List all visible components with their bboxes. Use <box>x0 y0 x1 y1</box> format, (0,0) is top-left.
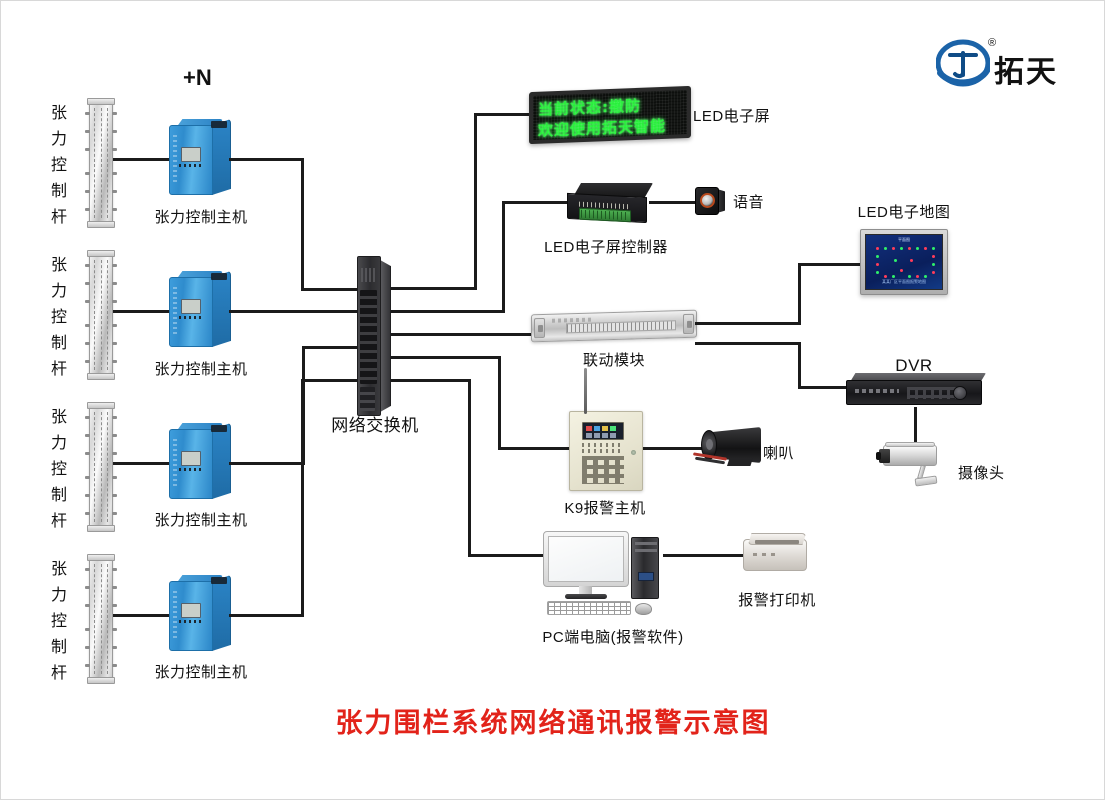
pole-label-1: 张力控制杆 <box>49 101 69 231</box>
wire-pc-printer <box>663 554 745 557</box>
wire-k9-horn <box>643 447 705 450</box>
tension-pole-2 <box>89 253 113 377</box>
brand-mark-icon <box>936 39 990 87</box>
tension-host-label-2: 张力控制主机 <box>154 358 247 379</box>
linkage-module <box>531 310 697 343</box>
tension-host-2 <box>169 271 231 349</box>
camera-label: 摄像头 <box>958 462 1005 483</box>
led-screen: 当前状态:撤防 欢迎使用拓天智能 <box>529 86 691 144</box>
wire-pole1-host1 <box>113 158 173 161</box>
wire-switch-ledctrl-v <box>502 201 505 313</box>
wire-ledctrl-voice <box>649 201 697 204</box>
wire-linkmodule-dvr-h1 <box>695 342 801 345</box>
voice-speaker <box>695 187 725 215</box>
brand-logo: ® 拓天 <box>936 39 1105 95</box>
network-switch-label: 网络交换机 <box>331 411 419 436</box>
k9-alarm-label: K9报警主机 <box>564 497 645 518</box>
wire-linkmodule-map-v <box>798 263 801 325</box>
dvr-device <box>846 373 986 407</box>
k9-alarm-host <box>569 411 643 491</box>
wire-switch-ledctrl-h2 <box>502 201 570 204</box>
tension-host-1 <box>169 119 231 197</box>
led-screen-line2: 欢迎使用拓天智能 <box>538 114 683 141</box>
tension-pole-4 <box>89 557 113 681</box>
tension-pole-1 <box>89 101 113 225</box>
diagram-canvas: ® 拓天 +N 张力控制杆 张力控制主机 张力控制杆 <box>0 0 1105 800</box>
wire-bus4-up <box>301 379 304 617</box>
brand-name: 拓天 <box>994 47 1058 91</box>
tension-host-4 <box>169 575 231 653</box>
wire-switch-ledscreen-v <box>474 113 477 290</box>
led-screen-label: LED电子屏 <box>693 105 770 126</box>
printer-label: 报警打印机 <box>738 589 816 610</box>
tension-host-label-1: 张力控制主机 <box>154 206 247 227</box>
linkage-module-label: 联动模块 <box>583 349 645 370</box>
wire-linkmodule-map-h2 <box>798 263 860 266</box>
camera-device <box>879 441 951 497</box>
tension-host-label-3: 张力控制主机 <box>154 509 247 530</box>
wire-switch-k9-h1 <box>391 356 501 359</box>
pole-label-2: 张力控制杆 <box>49 253 69 383</box>
tension-host-label-4: 张力控制主机 <box>154 661 247 682</box>
wire-pole4-host4 <box>113 614 173 617</box>
wire-pole3-host3 <box>113 462 173 465</box>
tension-host-3 <box>169 423 231 501</box>
led-map-label: LED电子地图 <box>858 201 951 222</box>
wire-switch-ledscreen-h1 <box>391 287 477 290</box>
led-controller <box>567 183 653 223</box>
horn-label: 喇叭 <box>763 442 794 463</box>
wire-switch-k9-v <box>498 356 501 450</box>
alarm-printer <box>743 531 811 575</box>
led-screen-line1: 当前状态:撤防 <box>538 93 683 120</box>
led-map-caption-top: 平面图 <box>866 237 942 243</box>
led-controller-label: LED电子屏控制器 <box>544 236 668 257</box>
wire-switch-ledscreen-h2 <box>474 113 530 116</box>
wire-bus4-switch <box>301 379 357 382</box>
tension-pole-3 <box>89 405 113 529</box>
wire-switch-pc-h2 <box>468 554 544 557</box>
wire-linkmodule-dvr-h2 <box>798 386 848 389</box>
wire-host3-bus <box>229 462 305 465</box>
wire-switch-ledctrl-h1 <box>391 310 505 313</box>
plus-n-label: +N <box>183 65 212 91</box>
led-map: 平面图 某某厂区平面图报警地图 <box>860 229 948 295</box>
wire-host2-switch <box>229 310 357 313</box>
wire-linkmodule-dvr-v <box>798 342 801 389</box>
led-map-caption-bottom: 某某厂区平面图报警地图 <box>866 279 942 285</box>
wire-switch-k9-h2 <box>498 447 570 450</box>
voice-label: 语音 <box>733 191 764 212</box>
pc-workstation <box>543 531 659 617</box>
wire-pole2-host2 <box>113 310 173 313</box>
wire-host1-bus <box>229 158 304 161</box>
wire-switch-linkmodule <box>391 333 533 336</box>
wire-switch-pc-h1 <box>391 379 471 382</box>
network-switch <box>357 256 391 416</box>
wire-bus1-down <box>301 158 304 291</box>
wire-switch-pc-v <box>468 379 471 557</box>
pole-label-3: 张力控制杆 <box>49 405 69 535</box>
wire-linkmodule-map-h1 <box>695 322 801 325</box>
pc-label: PC端电脑(报警软件) <box>542 626 683 647</box>
wire-host4-bus <box>229 614 304 617</box>
diagram-title: 张力围栏系统网络通讯报警示意图 <box>336 701 771 740</box>
wire-bus1-switch <box>301 288 357 291</box>
pole-label-4: 张力控制杆 <box>49 557 69 687</box>
wire-bus3-switch <box>302 346 357 349</box>
horn-speaker <box>697 425 771 471</box>
